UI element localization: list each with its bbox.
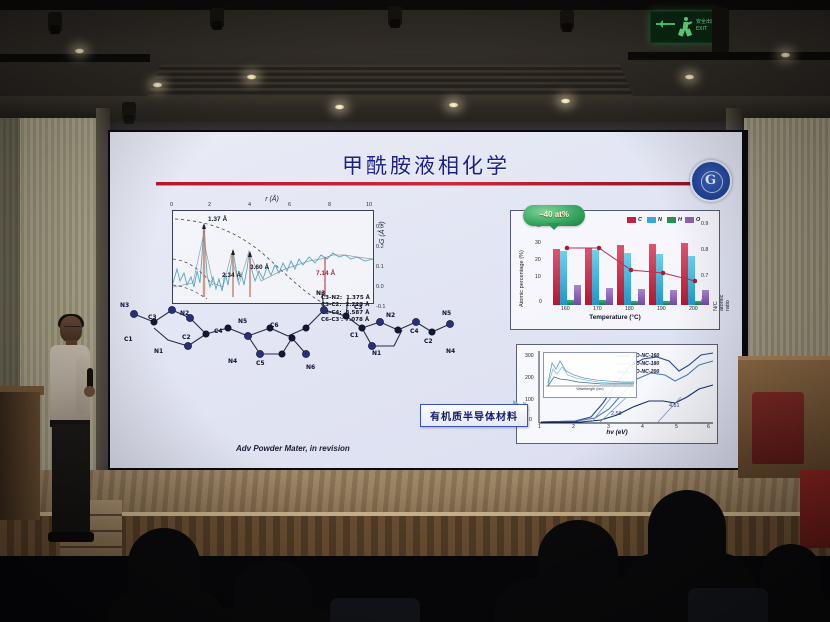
- atom-label: C1: [124, 336, 133, 343]
- side-chair: [752, 392, 804, 464]
- presenter-trousers: [52, 424, 90, 536]
- legend-label-c: C: [638, 217, 642, 223]
- pdf-peak-label: 7.14 Å: [316, 270, 335, 277]
- logo-initial: G: [705, 173, 716, 188]
- ceiling-spotlight: [210, 8, 224, 28]
- ceiling-downlight: [246, 74, 257, 80]
- legend-swatch-h: [667, 217, 676, 223]
- bar-chart-y2-tick: 0.8: [701, 247, 708, 253]
- atom-label: N3: [316, 290, 325, 297]
- ceiling-beam: [628, 52, 830, 60]
- callout-text: ~40 at%: [523, 210, 585, 219]
- ceiling-spotlight: [122, 102, 136, 122]
- ceiling-downlight: [152, 82, 163, 88]
- tauc-annotation: 2.58: [611, 411, 622, 417]
- uv-vis-inset-plot: Wavelength (nm): [543, 352, 637, 398]
- bar-chart-x-axis-label: Temperature (°C): [511, 314, 719, 321]
- tauc-annotation: 4.51: [669, 403, 680, 409]
- bar-chart-y2-tick: 0.9: [701, 221, 708, 227]
- ceiling-spotlight: [388, 6, 402, 26]
- ceiling-spotlight: [560, 10, 574, 30]
- bar-chart-y-tick: 30: [535, 240, 541, 246]
- pdf-distance-table: C3-N2: 1.375 Å C3-C2: 2.223 Å C3-C4: 3.5…: [321, 295, 370, 325]
- auditorium-seat: [688, 588, 768, 622]
- ceiling-beam: [0, 54, 150, 62]
- slide-title: 甲酰胺液相化学: [110, 150, 742, 180]
- atom-label: C2: [182, 334, 191, 341]
- legend-label-n: N: [658, 217, 662, 223]
- bar-chart-y-tick: 20: [535, 257, 541, 263]
- pdf-y-tick: 0.0: [376, 284, 384, 290]
- pdf-curve-svg: [173, 211, 373, 303]
- semiconductor-material-highlight: 有机质半导体材料: [420, 404, 528, 427]
- lectern: [0, 392, 40, 520]
- tauc-x-tick: 5: [675, 424, 678, 430]
- atom-label: C4: [214, 328, 223, 335]
- title-divider-secondary: [156, 185, 696, 186]
- university-logo: G: [690, 160, 732, 202]
- atom-label: C4: [410, 328, 419, 335]
- pdf-peak-label: 3.60 Å: [250, 264, 269, 271]
- bar-chart-y-tick: 0: [539, 299, 542, 305]
- atom-label: N1: [154, 348, 163, 355]
- presenter-glasses: [64, 326, 81, 331]
- atom-label: C2: [424, 338, 433, 345]
- lecture-hall-photo: 安全出口 EXIT 甲酰胺液相化学 G r (Å) 0 2 4 6 8 10: [0, 0, 830, 622]
- atom-label: C1: [350, 332, 359, 339]
- audience-shoulders: [208, 606, 340, 622]
- red-banner: [800, 470, 830, 548]
- ceiling-downlight: [448, 102, 459, 108]
- bar-chart-y2-tick: 0.7: [701, 273, 708, 279]
- running-man-icon: [678, 17, 692, 37]
- tauc-x-tick: 3: [607, 424, 610, 430]
- pdf-y-tick: -0.1: [376, 304, 385, 310]
- atomic-percentage-bar-chart: Atomic percentage (%) N/C atomic ratio T…: [510, 210, 720, 330]
- ceiling-downlight: [780, 52, 791, 58]
- ceiling-downlight: [684, 74, 695, 80]
- presenter: [44, 316, 104, 556]
- uv-vis-x-axis-label: Wavelength (nm): [544, 387, 636, 391]
- bar-chart-y2-axis-label: N/C atomic ratio: [713, 295, 731, 311]
- legend-swatch-c: [627, 217, 636, 223]
- legend-label-h: H: [678, 217, 682, 223]
- bar-chart-y-axis-label: Atomic percentage (%): [519, 250, 525, 307]
- bar-chart-y-tick: 10: [535, 274, 541, 280]
- tauc-x-tick: 6: [707, 424, 710, 430]
- tauc-x-tick: 4: [641, 424, 644, 430]
- bar-chart-plot-area: [547, 223, 697, 305]
- pdf-x-tick: 6: [288, 202, 291, 208]
- bar-chart-x-tick: 180: [625, 306, 634, 312]
- atom-label: N6: [306, 364, 315, 371]
- pdf-y-axis-label: G (Å⁻²): [378, 221, 386, 244]
- atom-label: N5: [442, 310, 451, 317]
- pdf-x-tick: 0: [170, 202, 173, 208]
- pdf-x-tick: 10: [366, 202, 372, 208]
- presenter-shoe: [68, 532, 94, 542]
- atom-label: C6: [270, 322, 279, 329]
- atom-label: N2: [386, 312, 395, 319]
- atom-label: N1: [372, 350, 381, 357]
- left-arrow-icon: [656, 23, 675, 25]
- legend-label-o: O: [696, 217, 700, 223]
- slide-citation: Adv Powder Mater, in revision: [236, 444, 350, 453]
- legend-swatch-n: [647, 217, 656, 223]
- pdf-peak-label: 1.37 Å: [208, 216, 227, 223]
- atom-label: N4: [228, 358, 237, 365]
- atom-label: C3: [354, 304, 363, 311]
- atom-label: N3: [120, 302, 129, 309]
- pdf-plot-panel: C3-N2: 1.375 Å C3-C2: 2.223 Å C3-C4: 3.5…: [172, 210, 374, 304]
- atomic-percentage-callout: ~40 at%: [523, 205, 585, 226]
- ceiling-downlight: [74, 48, 85, 54]
- tauc-x-tick: 2: [572, 424, 575, 430]
- legend-swatch-o: [685, 217, 694, 223]
- pdf-x-tick: 4: [248, 202, 251, 208]
- ceiling-speaker: [712, 8, 729, 52]
- auditorium-seat: [330, 598, 420, 622]
- atom-label: N5: [238, 318, 247, 325]
- pdf-peak-label: 2.34 Å: [222, 272, 241, 279]
- ceiling-beam: [0, 0, 830, 10]
- nc-ratio-line: [547, 223, 697, 305]
- atom-label: C3: [148, 314, 157, 321]
- uv-vis-curves: [544, 353, 636, 389]
- bar-chart-x-tick: 160: [561, 306, 570, 312]
- pdf-x-tick: 2: [208, 202, 211, 208]
- bar-chart-x-tick: 190: [657, 306, 666, 312]
- pdf-x-tick: 8: [328, 202, 331, 208]
- pdf-x-axis-label: r (Å): [172, 196, 372, 203]
- pdf-y-tick: 0.1: [376, 264, 384, 270]
- presenter-hand: [84, 386, 95, 397]
- bar-chart-x-tick: 170: [593, 306, 602, 312]
- pdf-y-tick: 0.2: [376, 244, 384, 250]
- ceiling-downlight: [560, 98, 571, 104]
- tauc-x-tick: 1: [538, 424, 541, 430]
- tauc-plot-panel: (αhν)² hν (eV) 300 200 100 0 1 2 3 4 5 6: [516, 344, 718, 444]
- atom-label: C5: [256, 360, 265, 367]
- ceiling-downlight: [334, 104, 345, 110]
- emergency-exit-sign: 安全出口 EXIT: [650, 11, 720, 43]
- ceiling-spotlight: [48, 12, 62, 32]
- bar-chart-x-tick: 200: [689, 306, 698, 312]
- atom-label: N4: [446, 348, 455, 355]
- bar-o-200: [702, 290, 709, 305]
- presentation-slide: 甲酰胺液相化学 G r (Å) 0 2 4 6 8 10: [110, 132, 742, 468]
- atom-label: N2: [180, 310, 189, 317]
